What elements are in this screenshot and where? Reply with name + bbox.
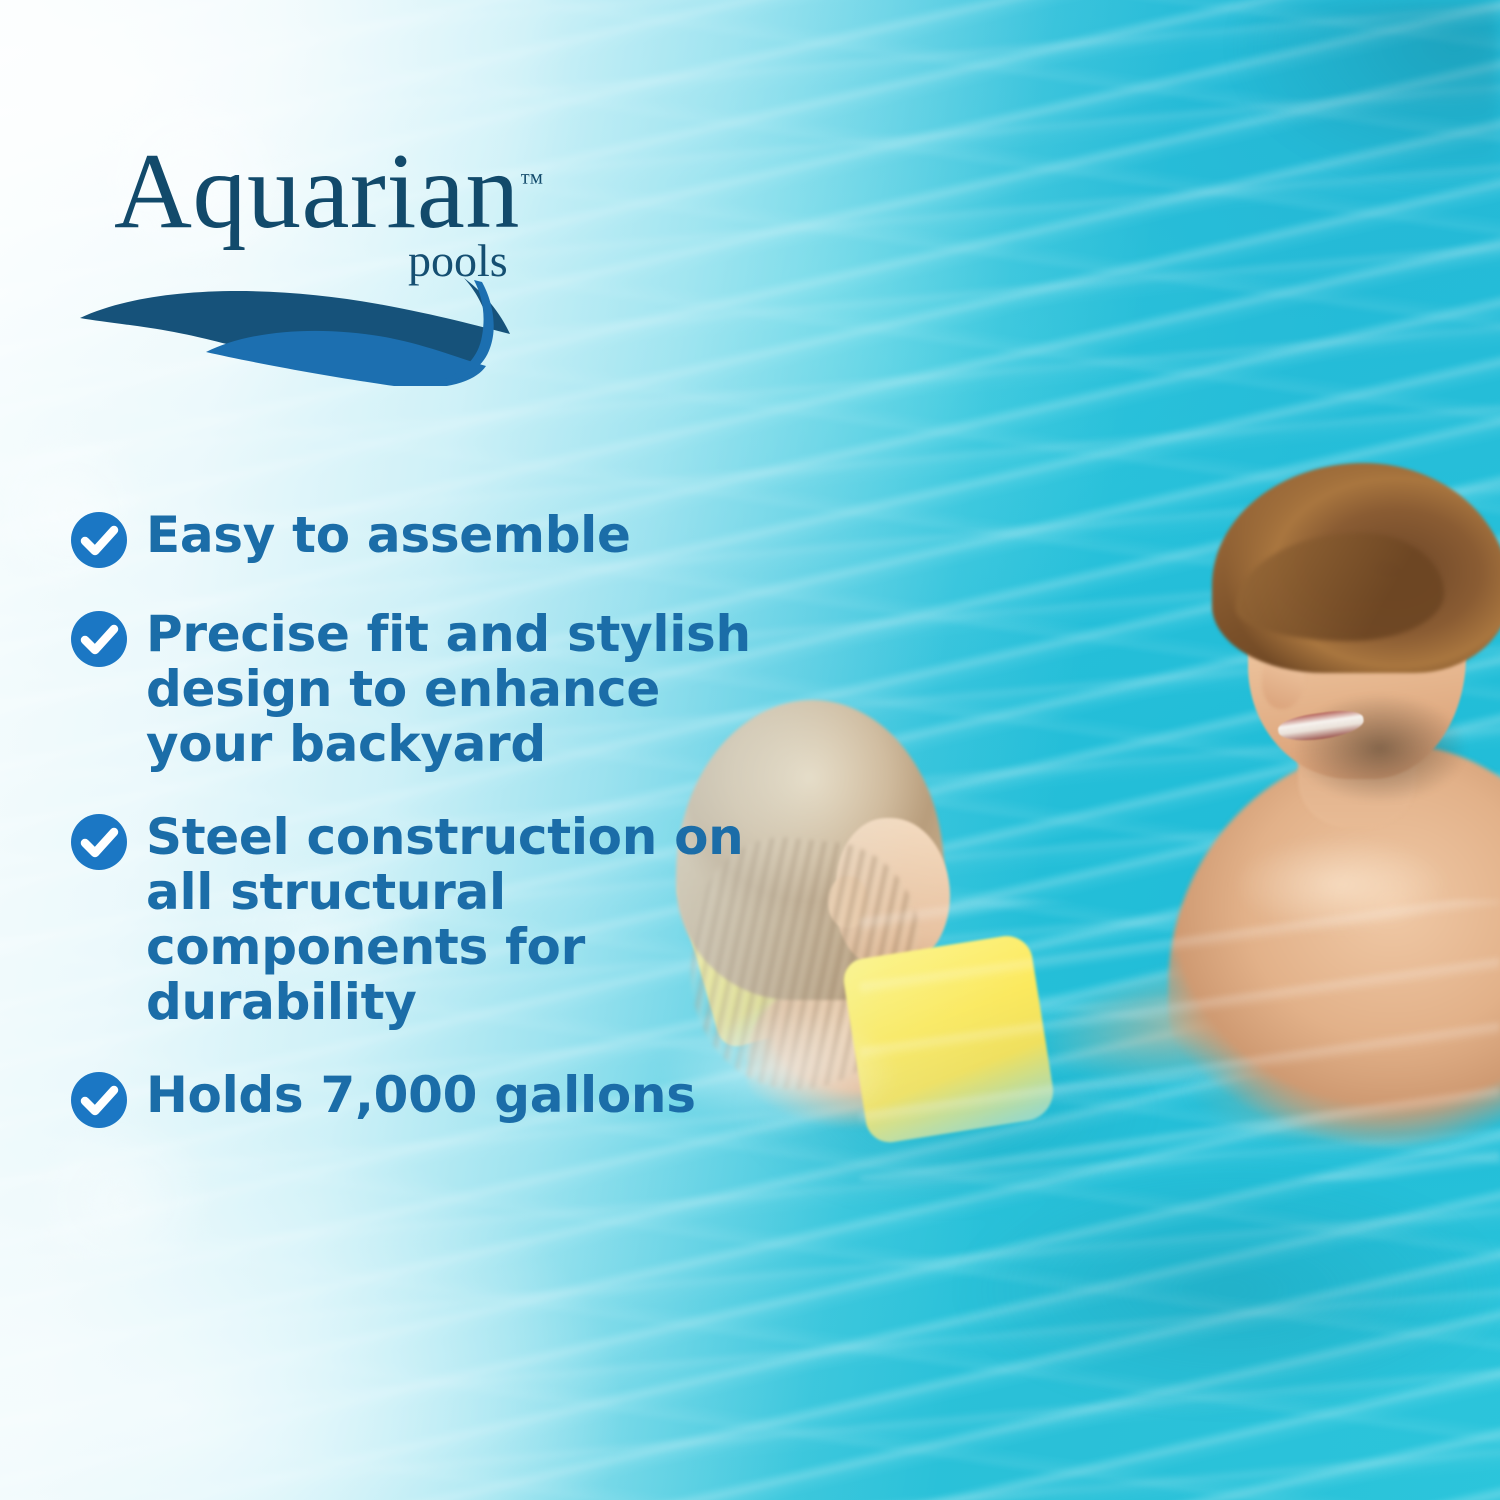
wave-swoosh-icon [78, 256, 638, 386]
brand-wordmark: Aquarian™ [114, 138, 543, 246]
list-item: Steel construction on all structural com… [70, 810, 800, 1030]
feature-text: Holds 7,000 gallons [146, 1068, 696, 1123]
check-circle-icon [70, 511, 128, 569]
list-item: Holds 7,000 gallons [70, 1068, 800, 1129]
content-layer: Aquarian™ pools Easy to assemble [0, 0, 1500, 1500]
list-item: Easy to assemble [70, 508, 800, 569]
list-item: Precise fit and stylish design to enhanc… [70, 607, 800, 772]
feature-text: Steel construction on all structural com… [146, 810, 800, 1030]
brand-logo: Aquarian™ pools [108, 138, 668, 378]
check-circle-icon [70, 813, 128, 871]
feature-text: Precise fit and stylish design to enhanc… [146, 607, 800, 772]
trademark-symbol: ™ [520, 170, 544, 196]
check-circle-icon [70, 610, 128, 668]
check-circle-icon [70, 1071, 128, 1129]
product-feature-image: Aquarian™ pools Easy to assemble [0, 0, 1500, 1500]
feature-text: Easy to assemble [146, 508, 631, 563]
feature-list: Easy to assemble Precise fit and stylish… [70, 508, 800, 1129]
